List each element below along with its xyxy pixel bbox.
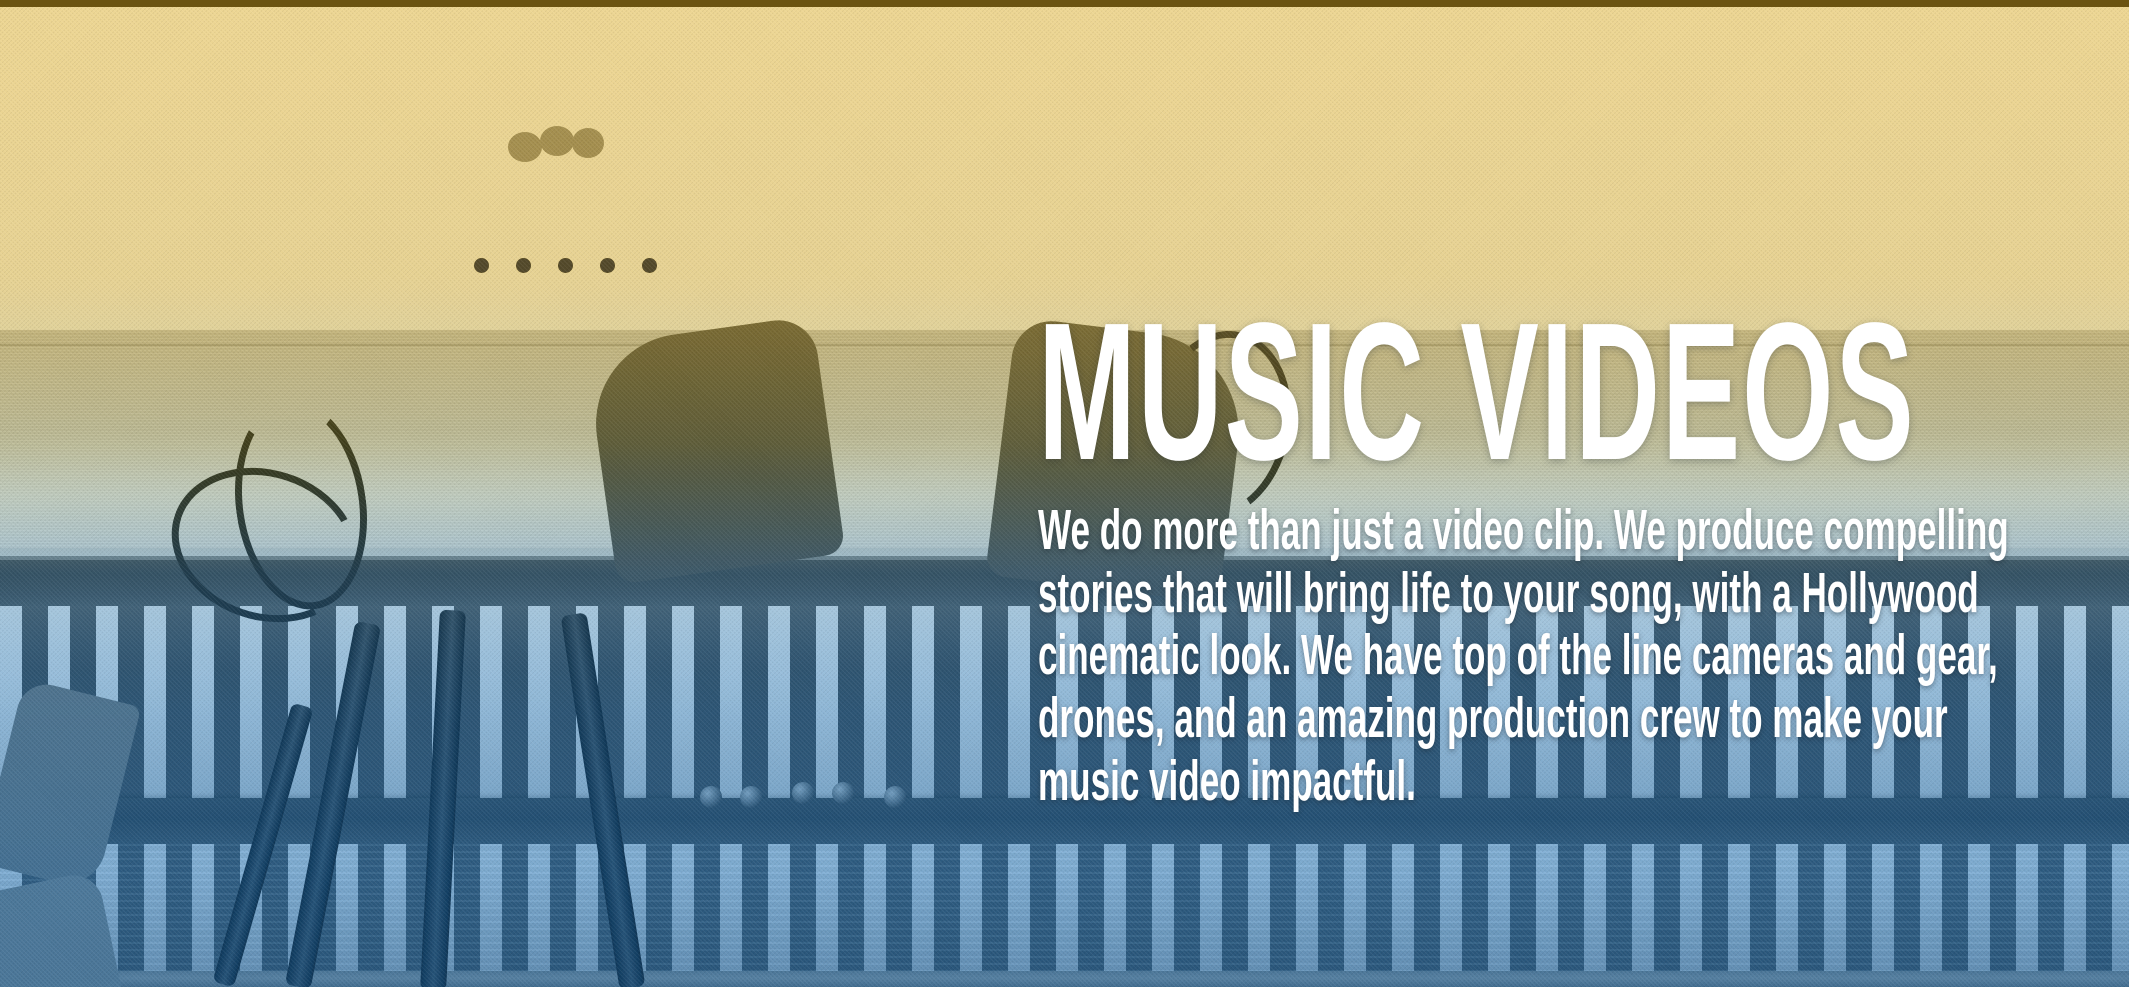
- paragraph-line: drones, and an amazing production crew t…: [1038, 687, 1579, 750]
- paragraph-line: We do more than just a video clip. We pr…: [1038, 499, 1579, 562]
- hero-headline: MUSIC VIDEOS: [1038, 316, 1566, 469]
- paragraph-line: music video impactful.: [1038, 750, 1579, 813]
- top-accent-strip: [0, 0, 2129, 7]
- paragraph-line: cinematic look. We have top of the line …: [1038, 624, 1579, 687]
- hero-copy-block: MUSIC VIDEOS We do more than just a vide…: [1038, 316, 1918, 812]
- hero-paragraph: We do more than just a video clip. We pr…: [1038, 499, 1579, 812]
- paragraph-line: stories that will bring life to your son…: [1038, 562, 1579, 625]
- music-videos-hero-banner: RED PARALINX V-LCD70 www.m: [0, 0, 2129, 987]
